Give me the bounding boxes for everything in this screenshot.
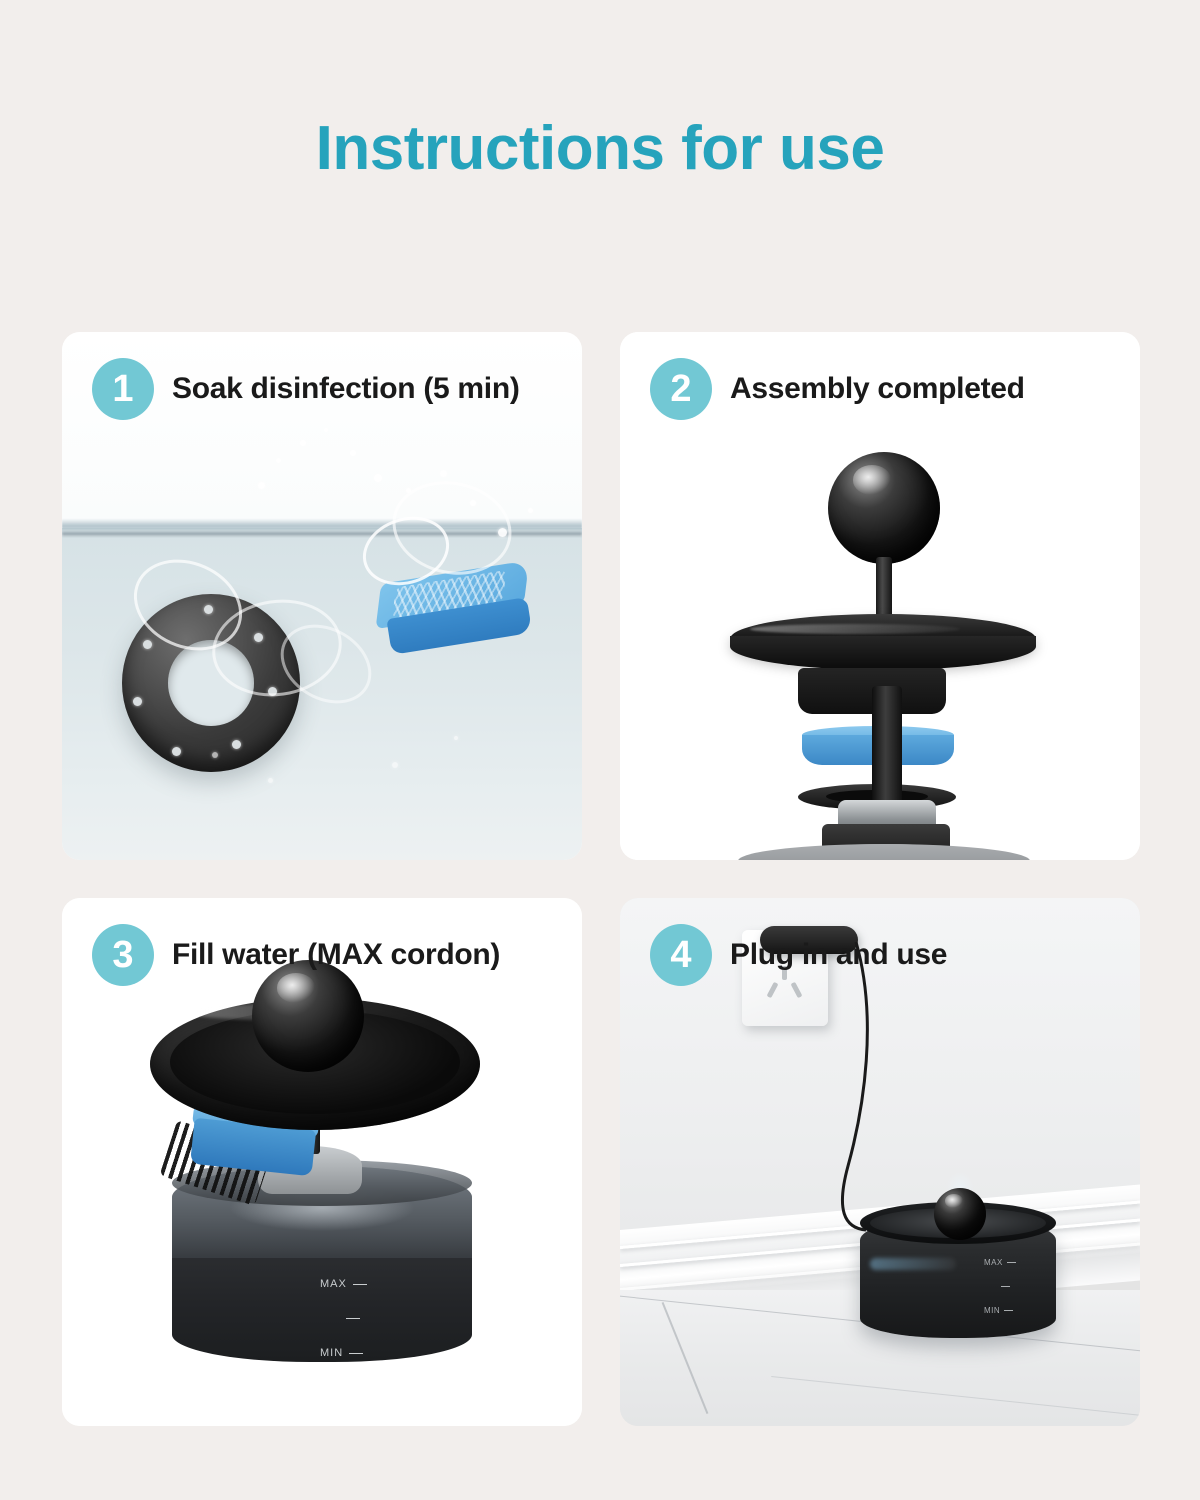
- step-label-1: Soak disinfection (5 min): [172, 372, 520, 406]
- fountain-ball: [934, 1188, 986, 1240]
- fountain-ball: [828, 452, 940, 564]
- step-number-badge-2: 2: [650, 358, 712, 420]
- step-1-header: 1 Soak disinfection (5 min): [92, 358, 520, 420]
- step-number-badge-4: 4: [650, 924, 712, 986]
- step-card-1: 1 Soak disinfection (5 min): [62, 332, 582, 860]
- tank-mid-marking: [320, 1318, 367, 1319]
- tank-max-marking: MAX: [320, 1278, 367, 1290]
- step-label-4: Plug in and use: [730, 938, 947, 972]
- tray-highlight: [750, 624, 960, 634]
- step-number-badge-3: 3: [92, 924, 154, 986]
- step-3-header: 3 Fill water (MAX cordon): [92, 924, 500, 986]
- tank-level-markings: MAX MIN: [984, 1258, 1016, 1315]
- tank-level-markings: MAX MIN: [320, 1278, 367, 1359]
- step-label-2: Assembly completed: [730, 372, 1025, 406]
- step-card-2: MAX 2 Assembly completed: [620, 332, 1140, 860]
- step-card-3: MAX MIN 3 Fill water (MAX cordon): [62, 898, 582, 1426]
- tank-min-marking: MIN: [984, 1306, 1016, 1315]
- tank-min-marking: MIN: [320, 1347, 367, 1359]
- page-title: Instructions for use: [0, 0, 1200, 180]
- tank-max-marking: MAX: [984, 1258, 1016, 1267]
- tank-mid-marking: [984, 1286, 1016, 1287]
- body-highlight: [870, 1258, 956, 1270]
- step-2-header: 2 Assembly completed: [650, 358, 1025, 420]
- step-label-3: Fill water (MAX cordon): [172, 938, 500, 972]
- step-card-4: MAX MIN 4 Plug in and use: [620, 898, 1140, 1426]
- steps-grid: 1 Soak disinfection (5 min) MAX: [62, 332, 1140, 1426]
- step-4-header: 4 Plug in and use: [650, 924, 947, 986]
- step-number-badge-1: 1: [92, 358, 154, 420]
- water-fountain-device: MAX MIN: [860, 1188, 1056, 1344]
- ball-stem: [876, 557, 892, 619]
